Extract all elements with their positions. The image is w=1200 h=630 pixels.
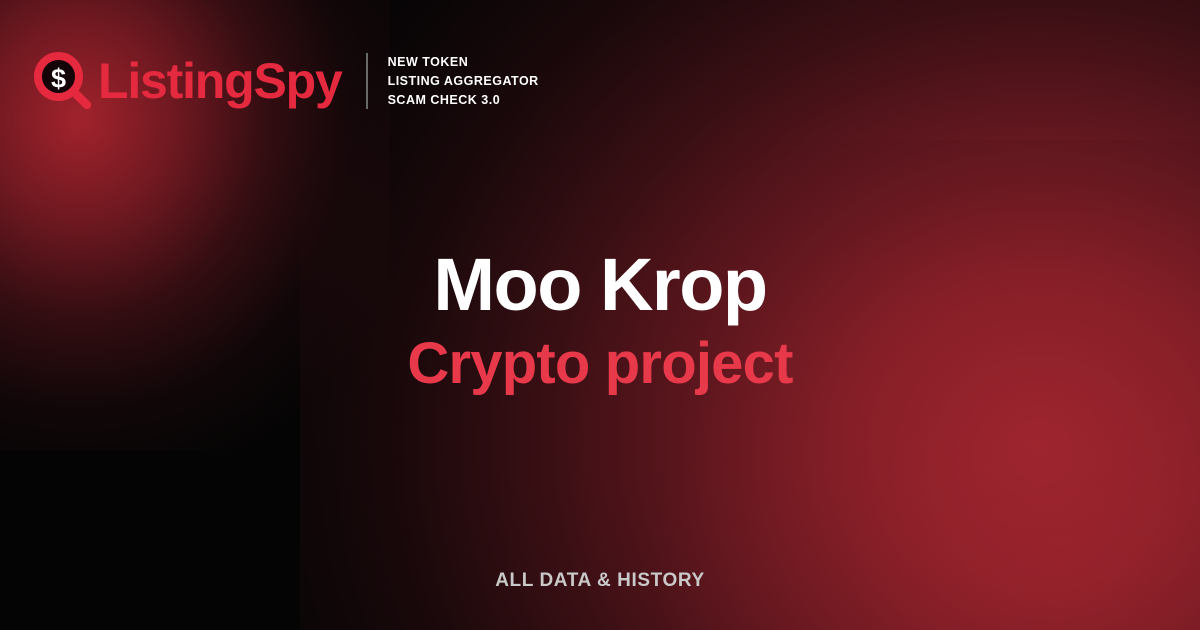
page-title: Moo Krop xyxy=(0,246,1200,324)
wordmark-spy: Spy xyxy=(253,53,341,109)
tagline-line-2: LISTING AGGREGATOR xyxy=(388,72,539,91)
wordmark-listing: Listing xyxy=(98,53,253,109)
magnifier-dollar-icon: $ xyxy=(34,52,92,110)
brand-tagline: NEW TOKEN LISTING AGGREGATOR SCAM CHECK … xyxy=(388,53,539,110)
tagline-line-3: SCAM CHECK 3.0 xyxy=(388,91,539,110)
tagline-line-1: NEW TOKEN xyxy=(388,53,539,72)
header: $ ListingSpy NEW TOKEN LISTING AGGREGATO… xyxy=(34,52,539,110)
brand-logo[interactable]: $ ListingSpy xyxy=(34,52,342,110)
footer-tagline: ALL DATA & HISTORY xyxy=(0,570,1200,592)
hero-block: Moo Krop Crypto project xyxy=(0,246,1200,396)
header-divider xyxy=(366,53,368,109)
svg-text:$: $ xyxy=(51,64,66,94)
page-subtitle: Crypto project xyxy=(0,332,1200,396)
social-share-card: $ ListingSpy NEW TOKEN LISTING AGGREGATO… xyxy=(0,0,1200,630)
brand-wordmark: ListingSpy xyxy=(98,56,342,106)
footer: ALL DATA & HISTORY xyxy=(0,570,1200,592)
